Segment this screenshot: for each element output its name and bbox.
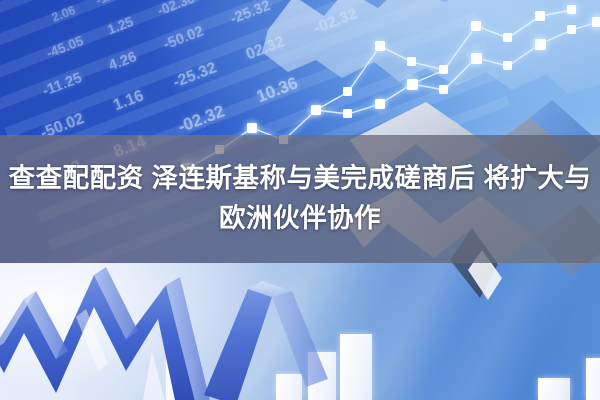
headline-line-1: 查查配配资 泽连斯基称与美完成磋商后 将扩大与: [9, 160, 592, 198]
bar-chart-bar: [538, 378, 570, 400]
bar-chart-bar: [586, 358, 600, 400]
news-thumbnail-image: 21.045.024.368.1-02.35-11.2550.02-02.361…: [0, 0, 600, 400]
headline-container: 查查配配资 泽连斯基称与美完成磋商后 将扩大与 欧洲伙伴协作: [0, 135, 600, 263]
3d-zigzag-ribbon: [0, 255, 330, 400]
headline-line-2: 欧洲伙伴协作: [219, 200, 381, 238]
bar-chart-bar: [340, 334, 372, 400]
